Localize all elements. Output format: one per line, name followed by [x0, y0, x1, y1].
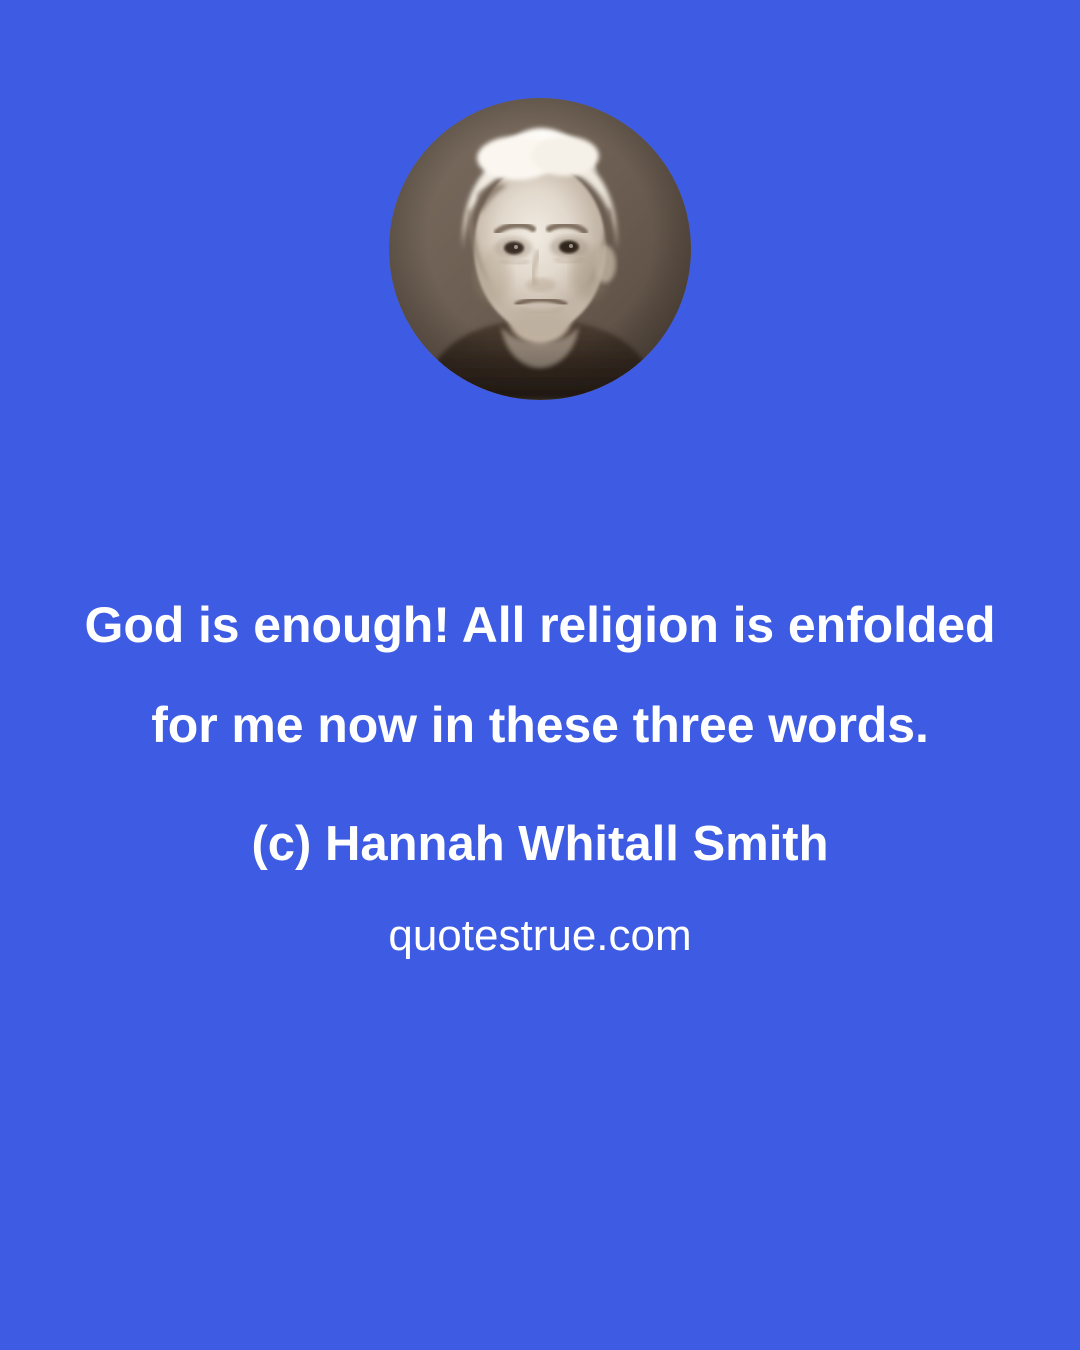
- quote-text-block: God is enough! All religion is enfolded …: [0, 575, 1080, 964]
- quote-card: God is enough! All religion is enfolded …: [0, 0, 1080, 1350]
- author-portrait: [389, 98, 691, 400]
- author-portrait-photo: [389, 98, 691, 400]
- quote-attribution: (c) Hannah Whitall Smith: [0, 813, 1080, 875]
- quote-line-1: God is enough! All religion is enfolded: [0, 575, 1080, 675]
- quote-line-2: for me now in these three words.: [0, 675, 1080, 775]
- source-website: quotestrue.com: [0, 908, 1080, 964]
